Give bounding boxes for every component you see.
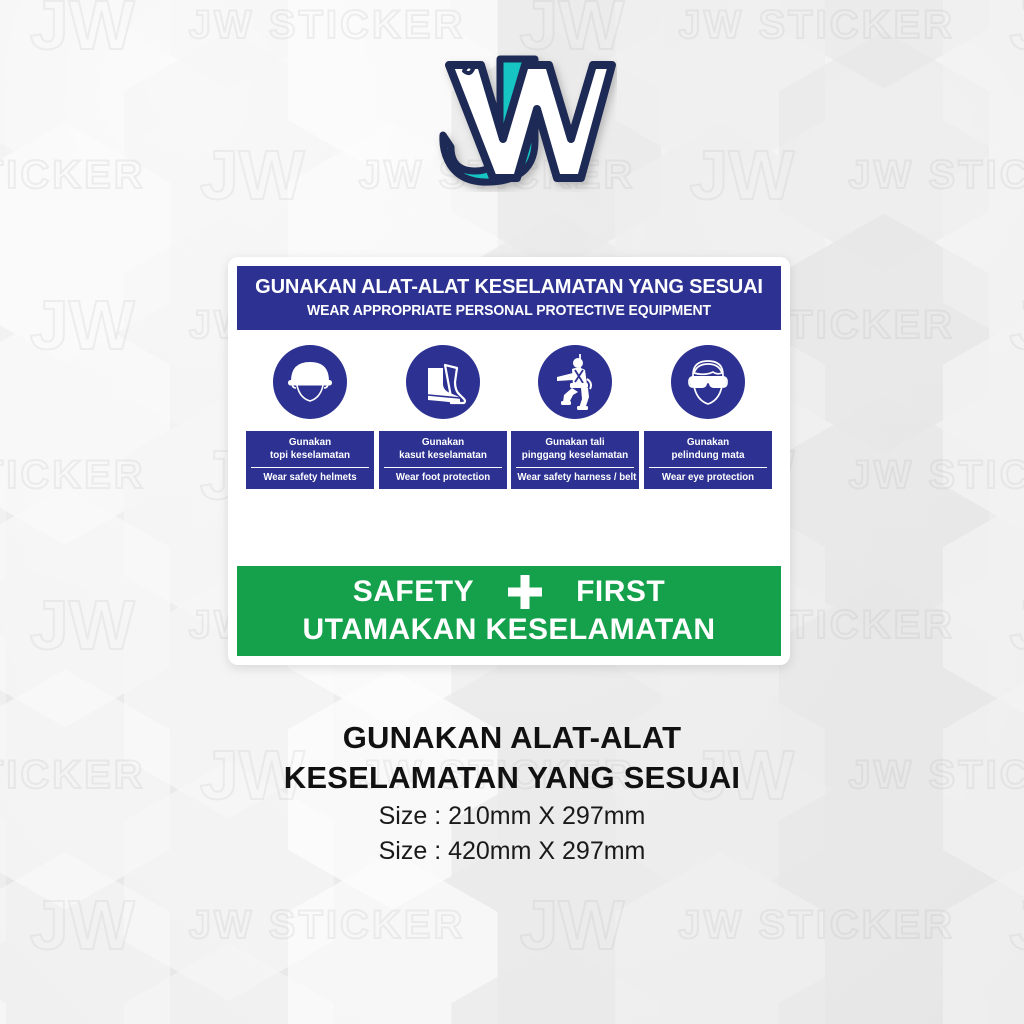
pictogram-item-harness: Gunakan tali pinggang keselamatan Wear s… — [511, 345, 639, 489]
pictogram-label-helmet: Gunakan topi keselamatan Wear safety hel… — [246, 431, 374, 489]
sign-header-line1: GUNAKAN ALAT-ALAT KESELAMATAN YANG SESUA… — [246, 275, 771, 299]
label-ms-line1: Gunakan tali — [516, 436, 634, 449]
pictogram-item-helmet: Gunakan topi keselamatan Wear safety hel… — [246, 345, 374, 489]
pictogram-item-goggles: Gunakan pelindung mata Wear eye protecti… — [644, 345, 772, 489]
label-ms-line1: Gunakan — [649, 436, 767, 449]
pictogram-row: Gunakan topi keselamatan Wear safety hel… — [237, 330, 781, 566]
pictogram-label-harness: Gunakan tali pinggang keselamatan Wear s… — [511, 431, 639, 489]
safety-sign: GUNAKAN ALAT-ALAT KESELAMATAN YANG SESUA… — [228, 257, 790, 665]
sign-header: GUNAKAN ALAT-ALAT KESELAMATAN YANG SESUA… — [237, 266, 781, 330]
footer-safety-text: SAFETY — [353, 577, 474, 607]
jw-logo-icon — [407, 47, 617, 192]
brand-logo — [0, 44, 1024, 194]
label-divider — [516, 467, 634, 468]
label-en: Wear foot protection — [385, 471, 500, 486]
caption-size-2: Size : 420mm X 297mm — [0, 834, 1024, 870]
pictogram-item-boots: Gunakan kasut keselamatan Wear foot prot… — [379, 345, 507, 489]
pictogram-label-goggles: Gunakan pelindung mata Wear eye protecti… — [644, 431, 772, 489]
label-en: Wear eye protection — [650, 471, 765, 486]
product-caption: GUNAKAN ALAT-ALAT KESELAMATAN YANG SESUA… — [0, 718, 1024, 870]
caption-title-line1: GUNAKAN ALAT-ALAT — [0, 718, 1024, 758]
safety-harness-icon — [538, 345, 612, 419]
label-divider — [384, 467, 502, 468]
label-divider — [649, 467, 767, 468]
footer-bottom-text: UTAMAKAN KESELAMATAN — [237, 614, 781, 646]
footer-first-text: FIRST — [576, 577, 665, 607]
caption-title-line2: KESELAMATAN YANG SESUAI — [0, 758, 1024, 798]
label-ms-line2: topi keselamatan — [251, 449, 369, 462]
label-divider — [251, 467, 369, 468]
label-ms-line1: Gunakan — [384, 436, 502, 449]
caption-size-1: Size : 210mm X 297mm — [0, 799, 1024, 835]
label-ms-line2: pelindung mata — [649, 449, 767, 462]
pictogram-label-boots: Gunakan kasut keselamatan Wear foot prot… — [379, 431, 507, 489]
label-en: Wear safety harness / belt — [518, 471, 633, 486]
safety-boots-icon — [406, 345, 480, 419]
medical-cross-icon — [508, 575, 542, 609]
label-ms-line2: kasut keselamatan — [384, 449, 502, 462]
safety-goggles-icon — [671, 345, 745, 419]
safety-first-row: SAFETY FIRST — [237, 575, 781, 609]
hard-hat-icon — [273, 345, 347, 419]
label-ms-line2: pinggang keselamatan — [516, 449, 634, 462]
label-ms-line1: Gunakan — [251, 436, 369, 449]
sign-footer: SAFETY FIRST UTAMAKAN KESELAMATAN — [237, 566, 781, 657]
label-en: Wear safety helmets — [252, 471, 367, 486]
sign-header-line2: WEAR APPROPRIATE PERSONAL PROTECTIVE EQU… — [252, 303, 767, 320]
